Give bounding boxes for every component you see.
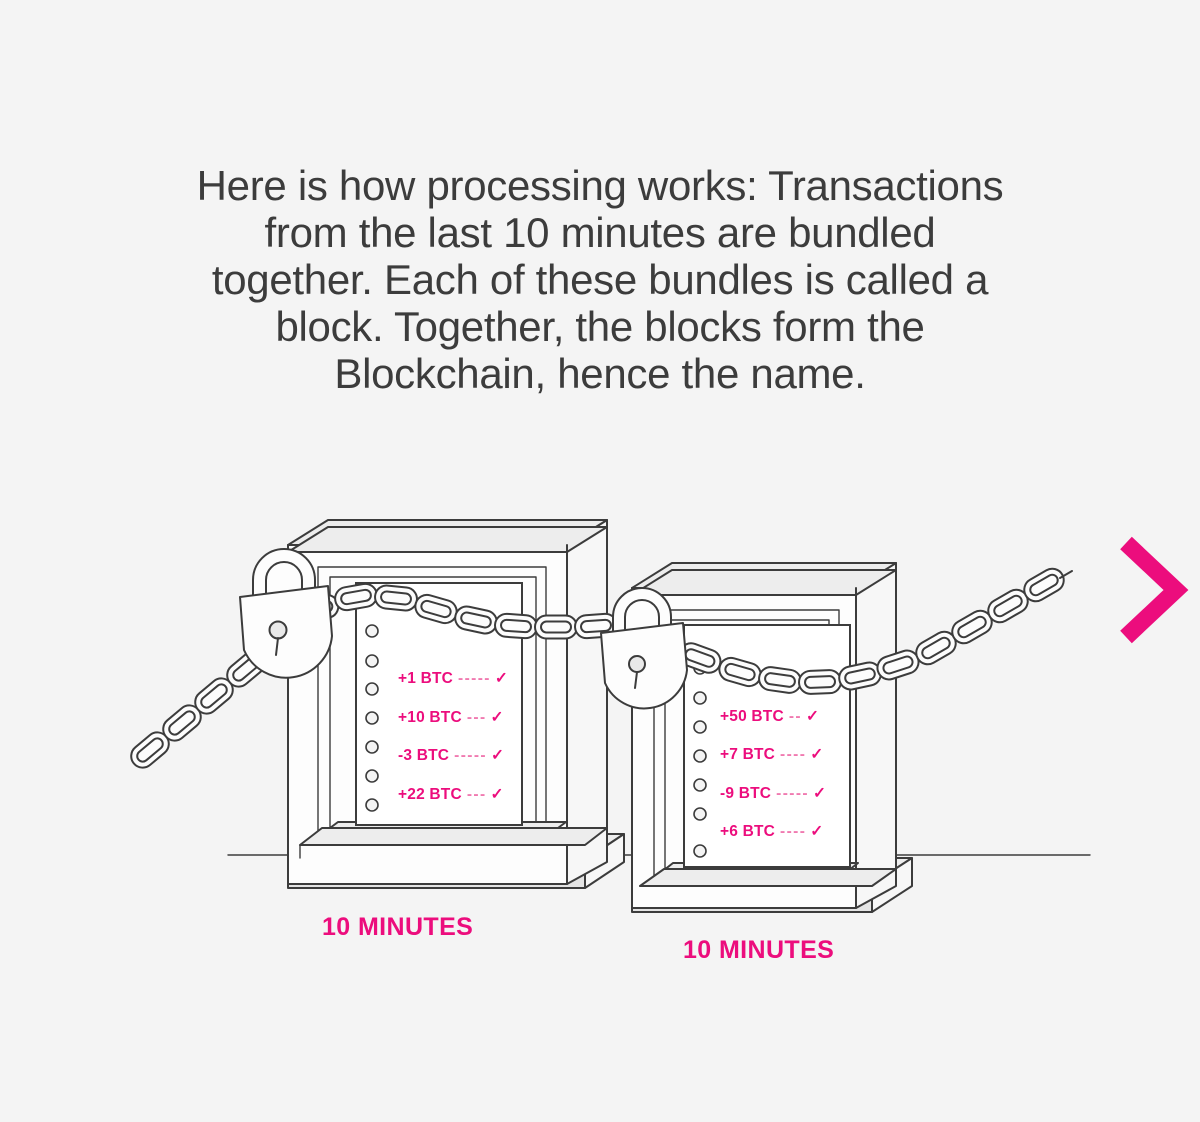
- safe-block-1: [288, 520, 624, 888]
- tx-dashes: -----: [454, 747, 487, 765]
- tx-amount: +1 BTC: [398, 670, 453, 688]
- tx-amount: +50 BTC: [720, 708, 784, 726]
- transaction-row: +1 BTC ----- ✓: [398, 669, 508, 688]
- tx-dashes: -----: [458, 670, 491, 688]
- tx-dashes: --: [789, 708, 802, 726]
- blockchain-safes-illustration: .ln { fill:none; stroke:#3c3c3c; stroke-…: [0, 0, 1200, 1122]
- check-icon: ✓: [810, 822, 823, 841]
- check-icon: ✓: [491, 708, 504, 727]
- check-icon: ✓: [491, 785, 504, 804]
- tx-amount: +22 BTC: [398, 786, 462, 804]
- tx-amount: -9 BTC: [720, 785, 771, 803]
- check-icon: ✓: [813, 784, 826, 803]
- check-icon: ✓: [491, 746, 504, 765]
- tx-dashes: -----: [776, 785, 809, 803]
- transaction-row: +10 BTC --- ✓: [398, 708, 504, 727]
- tx-amount: -3 BTC: [398, 747, 449, 765]
- transaction-row: +7 BTC ---- ✓: [720, 745, 823, 764]
- transaction-row: +6 BTC ---- ✓: [720, 822, 823, 841]
- next-arrow-icon[interactable]: [1126, 543, 1176, 637]
- tx-dashes: ----: [780, 823, 806, 841]
- check-icon: ✓: [495, 669, 508, 688]
- tx-dashes: ---: [467, 709, 487, 727]
- safe-block-2: [632, 563, 912, 912]
- transaction-row: +50 BTC -- ✓: [720, 707, 819, 726]
- tx-dashes: ----: [780, 746, 806, 764]
- illustration-canvas: Here is how processing works: Transactio…: [0, 0, 1200, 1122]
- check-icon: ✓: [810, 745, 823, 764]
- tx-amount: +7 BTC: [720, 746, 775, 764]
- tx-amount: +6 BTC: [720, 823, 775, 841]
- transaction-row: -3 BTC ----- ✓: [398, 746, 504, 765]
- transaction-row: +22 BTC --- ✓: [398, 785, 504, 804]
- block-1-caption: 10 MINUTES: [322, 913, 473, 942]
- block-2-caption: 10 MINUTES: [683, 936, 834, 965]
- tx-amount: +10 BTC: [398, 709, 462, 727]
- tx-dashes: ---: [467, 786, 487, 804]
- check-icon: ✓: [806, 707, 819, 726]
- transaction-row: -9 BTC ----- ✓: [720, 784, 826, 803]
